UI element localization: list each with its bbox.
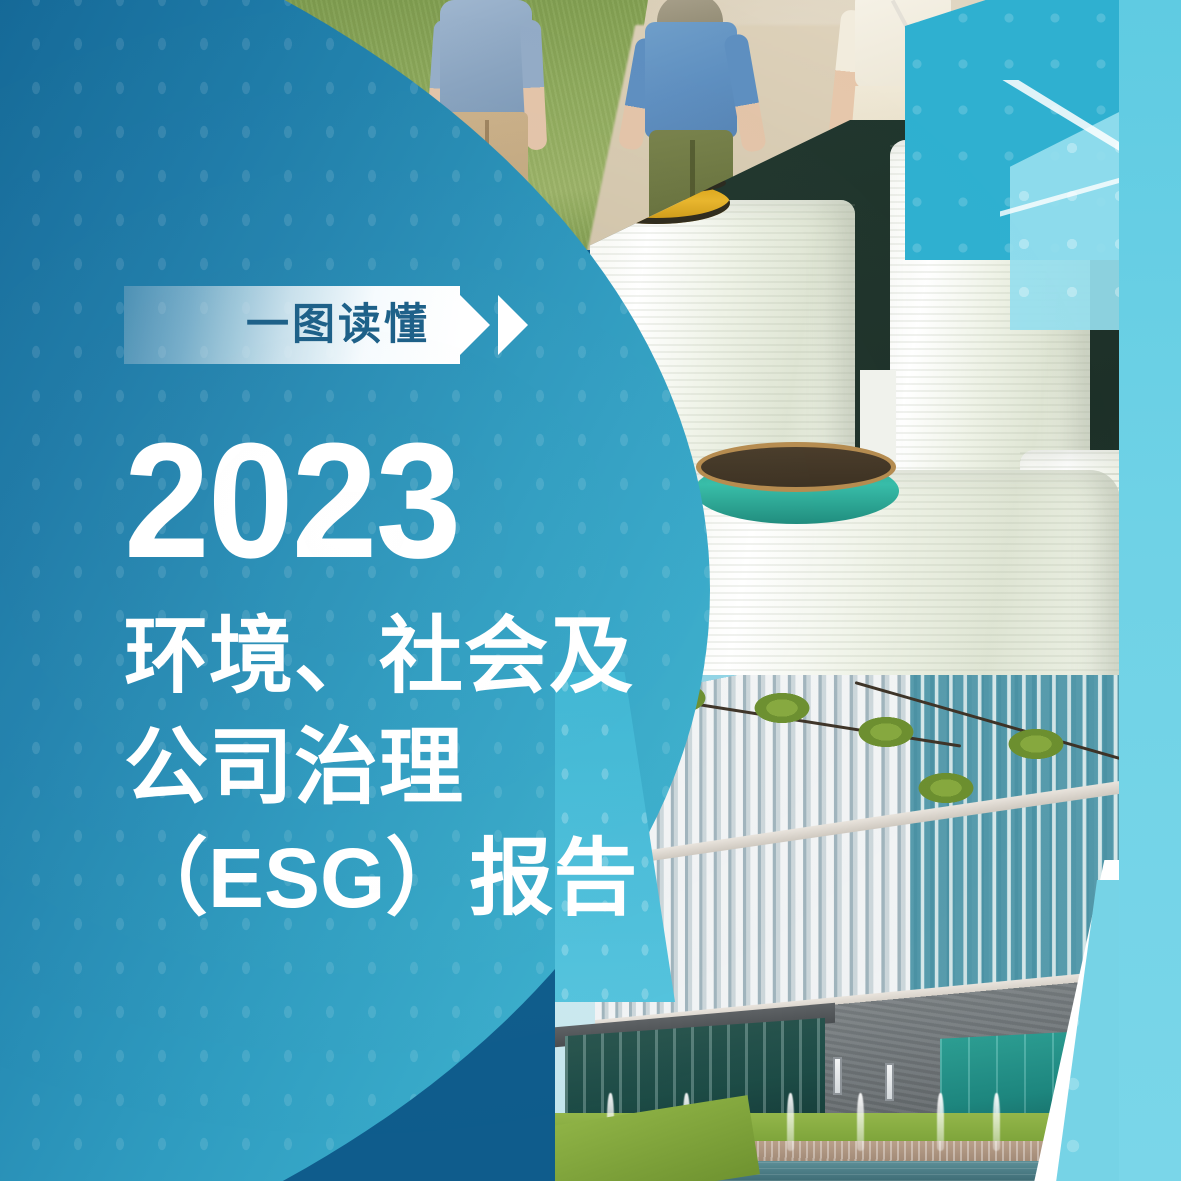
double-chevron-right-icon bbox=[458, 286, 544, 364]
leaf-cluster bbox=[915, 771, 977, 805]
leaf-cluster bbox=[1005, 727, 1067, 761]
fountain-jet bbox=[787, 1093, 794, 1151]
report-title-line-1: 环境、社会及 bbox=[124, 601, 684, 712]
esg-report-cover: 一图读懂 2023 环境、社会及 公司治理 （ESG）报告 bbox=[0, 0, 1181, 1181]
leaf-cluster bbox=[855, 715, 917, 749]
leaf-cluster bbox=[751, 691, 813, 725]
headline-badge: 一图读懂 bbox=[124, 286, 544, 364]
report-year: 2023 bbox=[124, 430, 650, 571]
roll-cap-teal bbox=[694, 458, 899, 524]
report-title-line-2: 公司治理 bbox=[124, 712, 684, 823]
fountain-jet bbox=[937, 1093, 944, 1151]
badge-bar: 一图读懂 bbox=[124, 286, 460, 364]
fountain-jet bbox=[857, 1093, 864, 1151]
handbag bbox=[925, 32, 971, 72]
cover-title-block: 2023 环境、社会及 公司治理 （ESG）报告 bbox=[124, 430, 684, 934]
fountain-jet bbox=[993, 1093, 1000, 1151]
report-title-line-3: （ESG）报告 bbox=[124, 823, 684, 934]
badge-label: 一图读懂 bbox=[246, 304, 430, 347]
